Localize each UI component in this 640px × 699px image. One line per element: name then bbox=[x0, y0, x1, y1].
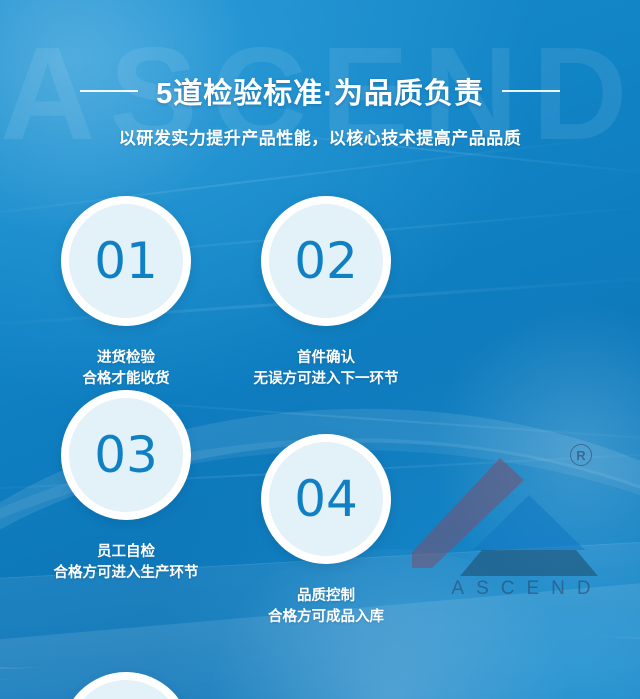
logo-brand-name: ASCEND bbox=[412, 578, 630, 600]
step-item-05: 05 再次检查产品 确保出库产品标准合格 bbox=[34, 672, 218, 699]
step-badge-01: 01 bbox=[61, 196, 191, 326]
company-logo: R ASCEND bbox=[412, 440, 630, 600]
step-number: 01 bbox=[94, 236, 158, 286]
step-badge-02: 02 bbox=[261, 196, 391, 326]
step-badge-03: 03 bbox=[61, 390, 191, 520]
step-badge-inner: 04 bbox=[269, 442, 383, 556]
registered-trademark-icon: R bbox=[570, 444, 592, 466]
step-badge-05: 05 bbox=[61, 672, 191, 699]
step-caption-detail: 无误方可进入下一环节 bbox=[254, 369, 399, 390]
step-caption-03: 员工自检 合格方可进入生产环节 bbox=[54, 542, 199, 584]
step-number: 03 bbox=[94, 430, 158, 480]
step-item-04: 04 品质控制 合格方可成品入库 bbox=[234, 434, 418, 628]
step-item-02: 02 首件确认 无误方可进入下一环节 bbox=[234, 196, 418, 390]
title-rule-right bbox=[502, 90, 560, 92]
step-caption-04: 品质控制 合格方可成品入库 bbox=[268, 586, 384, 628]
logo-base-trapezoid bbox=[460, 550, 598, 576]
title-row: 5道检验标准·为品质负责 bbox=[0, 70, 640, 112]
step-caption-detail: 合格方可成品入库 bbox=[268, 607, 384, 628]
step-caption-title: 品质控制 bbox=[268, 586, 384, 607]
step-badge-inner: 05 bbox=[69, 680, 183, 699]
step-caption-detail: 合格方可进入生产环节 bbox=[54, 563, 199, 584]
step-item-03: 03 员工自检 合格方可进入生产环节 bbox=[34, 390, 218, 628]
step-badge-inner: 03 bbox=[69, 398, 183, 512]
step-item-01: 01 进货检验 合格才能收货 bbox=[34, 196, 218, 390]
step-badge-04: 04 bbox=[261, 434, 391, 564]
step-badge-inner: 02 bbox=[269, 204, 383, 318]
title-rule-left bbox=[80, 90, 138, 92]
step-caption-detail: 合格才能收货 bbox=[83, 369, 170, 390]
step-badge-inner: 01 bbox=[69, 204, 183, 318]
step-number: 04 bbox=[294, 474, 358, 524]
step-caption-title: 进货检验 bbox=[83, 348, 170, 369]
step-caption-02: 首件确认 无误方可进入下一环节 bbox=[254, 348, 399, 390]
quality-inspection-poster: ASCEND 5道检验标准·为品质负责 以研发实力提升产品性能，以核心技术提高产… bbox=[0, 0, 640, 699]
step-caption-title: 员工自检 bbox=[54, 542, 199, 563]
page-title: 5道检验标准·为品质负责 bbox=[156, 70, 484, 112]
page-subtitle: 以研发实力提升产品性能，以核心技术提高产品品质 bbox=[0, 124, 640, 149]
step-number: 02 bbox=[294, 236, 358, 286]
step-caption-01: 进货检验 合格才能收货 bbox=[83, 348, 170, 390]
ascend-logo-mark bbox=[412, 440, 630, 580]
step-caption-title: 首件确认 bbox=[254, 348, 399, 369]
